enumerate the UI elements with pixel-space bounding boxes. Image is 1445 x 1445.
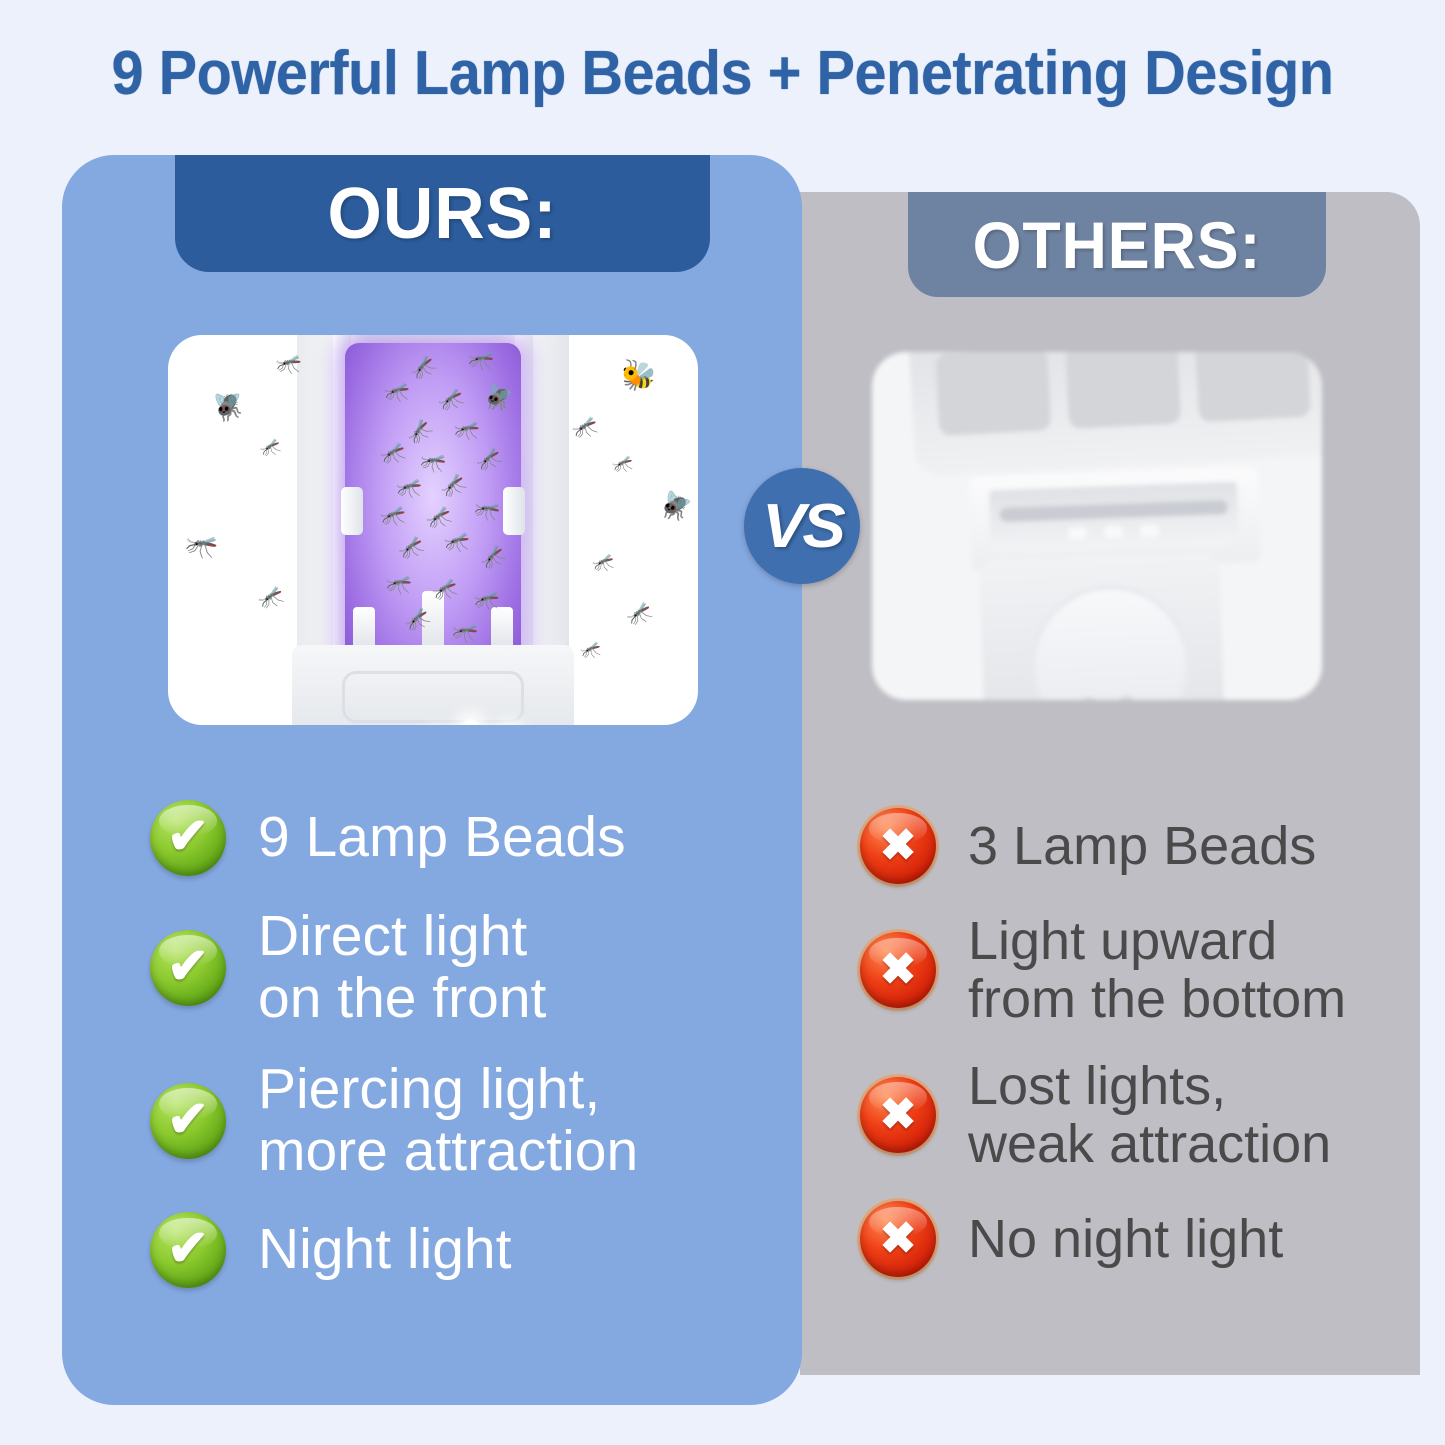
others-feature-label: Lost lights, weak attraction [968,1057,1331,1174]
list-item: ✔ Direct light on the front [150,906,780,1029]
check-glyph: ✔ [167,811,209,861]
others-badge-label: OTHERS: [973,207,1262,283]
others-badge: OTHERS: [908,192,1326,297]
others-socket-slot [1065,352,1181,429]
cross-glyph: ✖ [880,1093,917,1137]
others-lamp-bead-3 [1140,524,1158,537]
others-lamp-recess [989,482,1239,553]
check-glyph: ✔ [167,1223,209,1273]
others-product-photo [872,352,1322,700]
list-item: ✔ Piercing light, more attraction [150,1059,780,1182]
insect-icon: 🪰 [209,388,249,424]
x-circle-icon: ✖ [860,932,936,1008]
others-socket-slot [1195,352,1311,422]
list-item: ✖ 3 Lamp Beads [860,808,1420,884]
ours-feature-label: Night light [258,1219,511,1281]
others-plug-prong [1082,697,1096,700]
others-feature-list: ✖ 3 Lamp Beads ✖ Light upward from the b… [860,808,1420,1305]
ours-badge: OURS: [175,155,710,272]
insect-icon: 🐝 [617,359,660,397]
ours-feature-label: Direct light on the front [258,906,546,1029]
insect-icon: 🦟 [424,505,453,530]
vs-badge: VS [744,468,860,584]
insect-icon: 🦟 [452,416,482,443]
insect-icon: 🦟 [624,600,654,627]
zapper-foot-left [353,607,375,647]
check-glyph: ✔ [167,1094,209,1144]
insect-icon: 🦟 [580,641,601,658]
zapper-base-outline [342,671,524,723]
others-plug-ring [1028,582,1193,700]
ours-product-photo: 🪰 🦟 🦟 🦟 🦟 🐝 🦟 🦟 🪰 🦟 🦟 🦟 🦟 🦟 🦟 🦟 🪰 🦟 🦟 🦟 … [168,335,698,725]
insect-icon: 🦟 [443,529,472,553]
others-socket-slot [935,352,1051,436]
others-lamp-bead-2 [1104,526,1122,539]
list-item: ✔ Night light [150,1212,780,1288]
cross-glyph: ✖ [880,948,917,992]
check-circle-icon: ✔ [150,1083,226,1159]
insect-icon: 🦟 [379,442,407,466]
others-lamp-bead-1 [1068,527,1086,540]
others-feature-label: Light upward from the bottom [968,912,1346,1029]
zapper-base [292,645,574,725]
cross-glyph: ✖ [880,1217,917,1261]
ours-badge-label: OURS: [328,173,558,255]
check-circle-icon: ✔ [150,1212,226,1288]
cross-glyph: ✖ [880,824,917,868]
vs-label: VS [762,491,843,562]
list-item: ✖ No night light [860,1201,1420,1277]
zapper-clip-left [341,487,363,535]
zapper-clip-right [503,487,525,535]
list-item: ✔ 9 Lamp Beads [150,800,780,876]
others-feature-label: 3 Lamp Beads [968,817,1316,875]
insect-icon: 🪰 [658,490,694,521]
check-glyph: ✔ [167,941,209,991]
insect-icon: 🦟 [571,416,599,440]
insect-icon: 🦟 [612,455,633,472]
check-circle-icon: ✔ [150,930,226,1006]
insect-icon: 🦟 [379,504,407,527]
others-device-top [909,352,1322,477]
others-lamp-tube [1000,500,1228,522]
ours-feature-label: 9 Lamp Beads [258,807,626,869]
insect-icon: 🦟 [472,587,502,613]
list-item: ✖ Lost lights, weak attraction [860,1057,1420,1174]
page-title: 9 Powerful Lamp Beads + Penetrating Desi… [51,38,1395,109]
insect-icon: 🦟 [182,526,222,563]
ours-feature-label: Piercing light, more attraction [258,1059,638,1182]
insect-icon: 🦟 [431,578,459,602]
ours-feature-list: ✔ 9 Lamp Beads ✔ Direct light on the fro… [150,800,780,1318]
x-circle-icon: ✖ [860,808,936,884]
check-circle-icon: ✔ [150,800,226,876]
insect-icon: 🦟 [394,475,423,500]
others-feature-label: No night light [968,1210,1283,1268]
insect-icon: 🦟 [256,585,285,610]
insect-icon: 🦟 [274,351,304,377]
insect-icon: 🦟 [436,387,466,413]
others-plug-prong [1120,696,1134,700]
x-circle-icon: ✖ [860,1201,936,1277]
list-item: ✖ Light upward from the bottom [860,912,1420,1029]
others-plug-face [979,553,1225,700]
insect-icon: 🦟 [259,438,282,458]
insect-icon: 🪰 [483,386,515,413]
insect-icon: 🦟 [383,379,412,403]
x-circle-icon: ✖ [860,1077,936,1153]
insect-icon: 🦟 [592,553,614,571]
